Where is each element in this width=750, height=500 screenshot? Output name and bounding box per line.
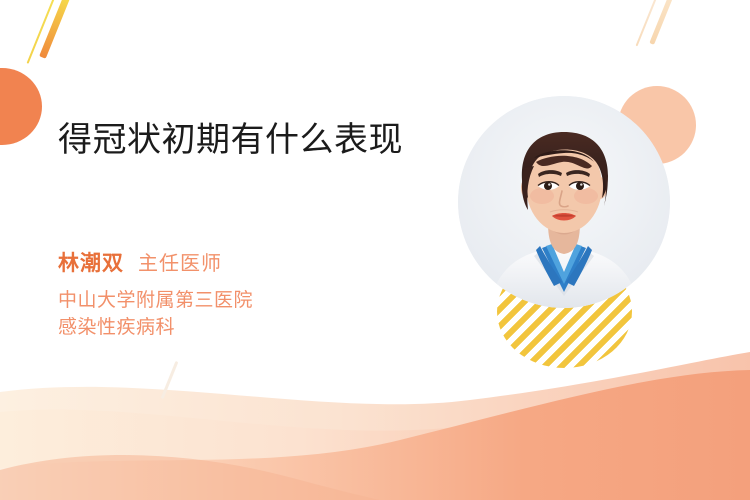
doctor-name: 林潮双 [58, 247, 124, 277]
diagonal-streak-icon [27, 0, 56, 64]
card-content: 得冠状初期有什么表现 林潮双 主任医师 中山大学附属第三医院 感染性疾病科 [58, 0, 438, 500]
hospital-name: 中山大学附属第三医院 [58, 287, 378, 314]
doctor-identity: 林潮双 主任医师 [58, 247, 222, 277]
doctor-affiliation: 中山大学附属第三医院 感染性疾病科 [58, 287, 378, 341]
orange-circle-decoration [0, 68, 42, 145]
diagonal-streak-icon [649, 0, 675, 45]
doctor-portrait-image [458, 96, 670, 308]
page-title: 得冠状初期有什么表现 [58, 118, 408, 162]
medical-qa-card: 得冠状初期有什么表现 林潮双 主任医师 中山大学附属第三医院 感染性疾病科 [0, 0, 750, 500]
doctor-title: 主任医师 [138, 247, 222, 276]
department-name: 感染性疾病科 [58, 314, 378, 341]
doctor-portrait [458, 96, 670, 308]
diagonal-streak-icon [636, 0, 659, 46]
